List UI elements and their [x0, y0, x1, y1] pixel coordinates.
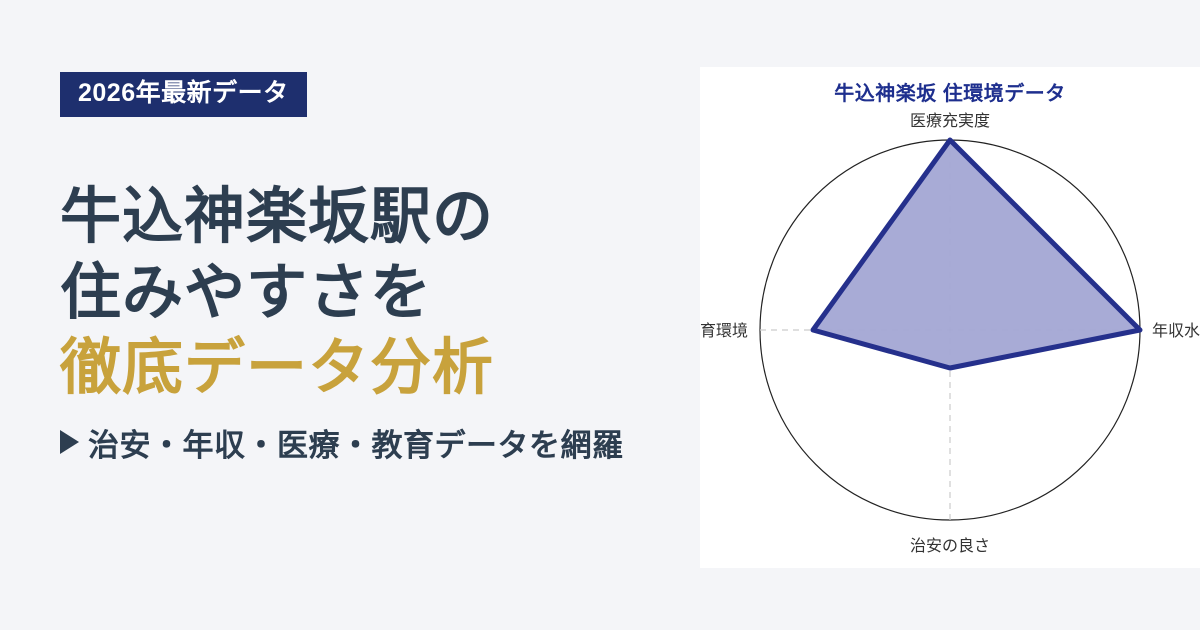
triangle-right-icon — [60, 430, 79, 454]
chart-panel: 牛込神楽坂 住環境データ 医療充実度 年収水準 治安の良さ 教育環境 — [700, 67, 1200, 568]
headline-line-3: 徹底データ分析 — [60, 330, 700, 406]
radar-chart: 医療充実度 年収水準 治安の良さ 教育環境 — [700, 67, 1200, 568]
radar-data-polygon — [813, 140, 1140, 368]
radar-axis-label-bottom: 治安の良さ — [910, 537, 990, 555]
poster-canvas: 2026年最新データ 牛込神楽坂駅の 住みやすさを 徹底データ分析 治安・年収・… — [0, 0, 1200, 630]
radar-axis-label-right: 年収水準 — [1152, 322, 1200, 340]
radar-axis-label-top: 医療充実度 — [910, 112, 990, 130]
radar-axis-label-left: 教育環境 — [700, 321, 748, 340]
page-title: 牛込神楽坂駅の 住みやすさを 徹底データ分析 — [60, 179, 700, 406]
headline-block: 2026年最新データ 牛込神楽坂駅の 住みやすさを 徹底データ分析 治安・年収・… — [60, 72, 700, 562]
headline-line-1: 牛込神楽坂駅の — [60, 179, 700, 255]
subtitle-text: 治安・年収・医療・教育データを網羅 — [88, 420, 624, 465]
headline-line-2: 住みやすさを — [60, 255, 700, 331]
status-badge: 2026年最新データ — [60, 72, 307, 117]
subtitle: 治安・年収・医療・教育データを網羅 — [60, 420, 700, 465]
